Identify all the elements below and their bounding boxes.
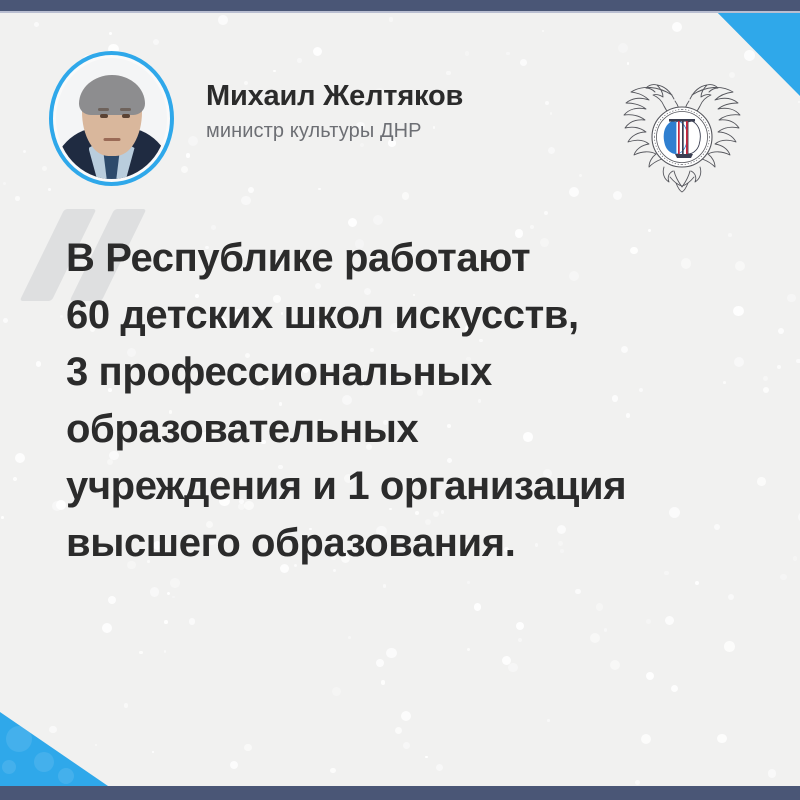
avatar-ring xyxy=(49,51,174,186)
speaker-info: Михаил Желтяков министр культуры ДНР xyxy=(206,81,463,143)
navy-top-bar xyxy=(0,0,800,11)
snow-dot xyxy=(152,751,154,753)
snow-dot xyxy=(108,596,116,604)
dnr-ministry-of-culture-emblem xyxy=(612,59,752,199)
quote-line: В Республике работают xyxy=(66,230,786,287)
snow-dot xyxy=(230,761,238,769)
snow-dot xyxy=(425,756,427,758)
snow-dot xyxy=(646,672,654,680)
portrait-eye-right xyxy=(122,114,130,118)
snow-dot xyxy=(467,581,469,583)
snow-dot xyxy=(60,315,63,318)
quote-line: образовательных xyxy=(66,401,786,458)
snow-dot xyxy=(665,616,674,625)
snow-dot xyxy=(139,651,143,655)
snow-dot xyxy=(150,587,160,597)
snow-dot xyxy=(330,768,335,773)
snow-dot xyxy=(474,603,482,611)
quote-text: В Республике работают 60 детских школ ис… xyxy=(66,230,786,572)
snow-dot xyxy=(15,453,25,463)
snow-dot xyxy=(575,589,580,594)
snow-dot xyxy=(436,764,444,772)
quote-line: учреждения и 1 организация xyxy=(66,458,786,515)
snow-dot xyxy=(401,711,411,721)
snow-dot xyxy=(768,769,777,778)
snow-dot xyxy=(590,633,601,644)
snow-dot xyxy=(13,477,17,481)
snow-dot xyxy=(787,294,796,303)
navy-bottom-bar xyxy=(0,786,800,800)
snow-dot xyxy=(348,636,351,639)
portrait-hair xyxy=(79,75,145,115)
snow-dot xyxy=(467,648,470,651)
snow-dot xyxy=(717,734,727,744)
quote-line: 60 детских школ искусств, xyxy=(66,287,786,344)
bokeh-dot xyxy=(58,768,74,784)
snow-dot xyxy=(516,622,524,630)
portrait-mouth xyxy=(103,138,120,141)
snow-dot xyxy=(395,727,402,734)
snow-dot xyxy=(635,780,641,786)
snow-dot xyxy=(596,603,604,611)
snow-dot xyxy=(170,578,180,588)
snow-dot xyxy=(403,742,410,749)
snow-dot xyxy=(348,218,357,227)
snow-dot xyxy=(244,744,252,752)
speaker-name: Михаил Желтяков xyxy=(206,81,463,113)
quote-line: высшего образования. xyxy=(66,515,786,572)
snow-dot xyxy=(164,650,166,652)
bokeh-dot xyxy=(34,752,54,772)
snow-dot xyxy=(530,225,534,229)
snow-dot xyxy=(124,703,129,708)
snow-dot xyxy=(646,619,652,625)
snow-dot xyxy=(172,596,175,599)
snow-dot xyxy=(604,628,608,632)
snow-dot xyxy=(383,584,387,588)
snow-dot xyxy=(502,656,512,666)
snow-dot xyxy=(381,680,386,685)
snow-dot xyxy=(780,574,787,581)
snow-dot xyxy=(695,581,699,585)
snow-dot xyxy=(547,719,550,722)
quote-line: 3 профессиональных xyxy=(66,344,786,401)
snow-dot xyxy=(641,734,651,744)
cyan-corner-triangle-bottom-left xyxy=(0,712,108,786)
snow-dot xyxy=(3,318,8,323)
snow-dot xyxy=(189,618,196,625)
snow-dot xyxy=(724,641,735,652)
snow-dot xyxy=(386,648,396,658)
portrait-brow-right xyxy=(120,108,131,111)
portrait-eye-left xyxy=(100,114,108,118)
snow-dot xyxy=(102,623,112,633)
snow-dot xyxy=(610,660,620,670)
portrait-brow-left xyxy=(98,108,109,111)
bokeh-dot xyxy=(6,726,32,752)
speaker-role: министр культуры ДНР xyxy=(206,120,463,143)
snow-dot xyxy=(49,726,57,734)
avatar xyxy=(49,51,174,186)
snow-dot xyxy=(373,215,384,226)
snow-dot xyxy=(728,594,734,600)
snow-dot xyxy=(36,361,41,366)
top-bar-hairline xyxy=(0,11,800,13)
snow-dot xyxy=(211,225,216,230)
snow-dot xyxy=(52,501,62,511)
bokeh-dot xyxy=(2,760,16,774)
snow-dot xyxy=(793,556,797,560)
snow-dot xyxy=(1,516,4,519)
snow-dot xyxy=(332,687,341,696)
snow-dot xyxy=(167,592,170,595)
speaker-portrait xyxy=(56,58,167,179)
snow-dot xyxy=(508,663,517,672)
snow-dot xyxy=(518,638,522,642)
snow-dot xyxy=(95,744,98,747)
snow-dot xyxy=(56,500,66,510)
card-header: Михаил Желтяков министр культуры ДНР xyxy=(0,13,800,203)
snow-dot xyxy=(796,359,800,363)
snow-dot xyxy=(376,659,384,667)
snow-dot xyxy=(164,620,168,624)
quote-card: Михаил Желтяков министр культуры ДНР xyxy=(0,0,800,800)
snow-dot xyxy=(544,211,548,215)
snow-dot xyxy=(671,685,679,693)
